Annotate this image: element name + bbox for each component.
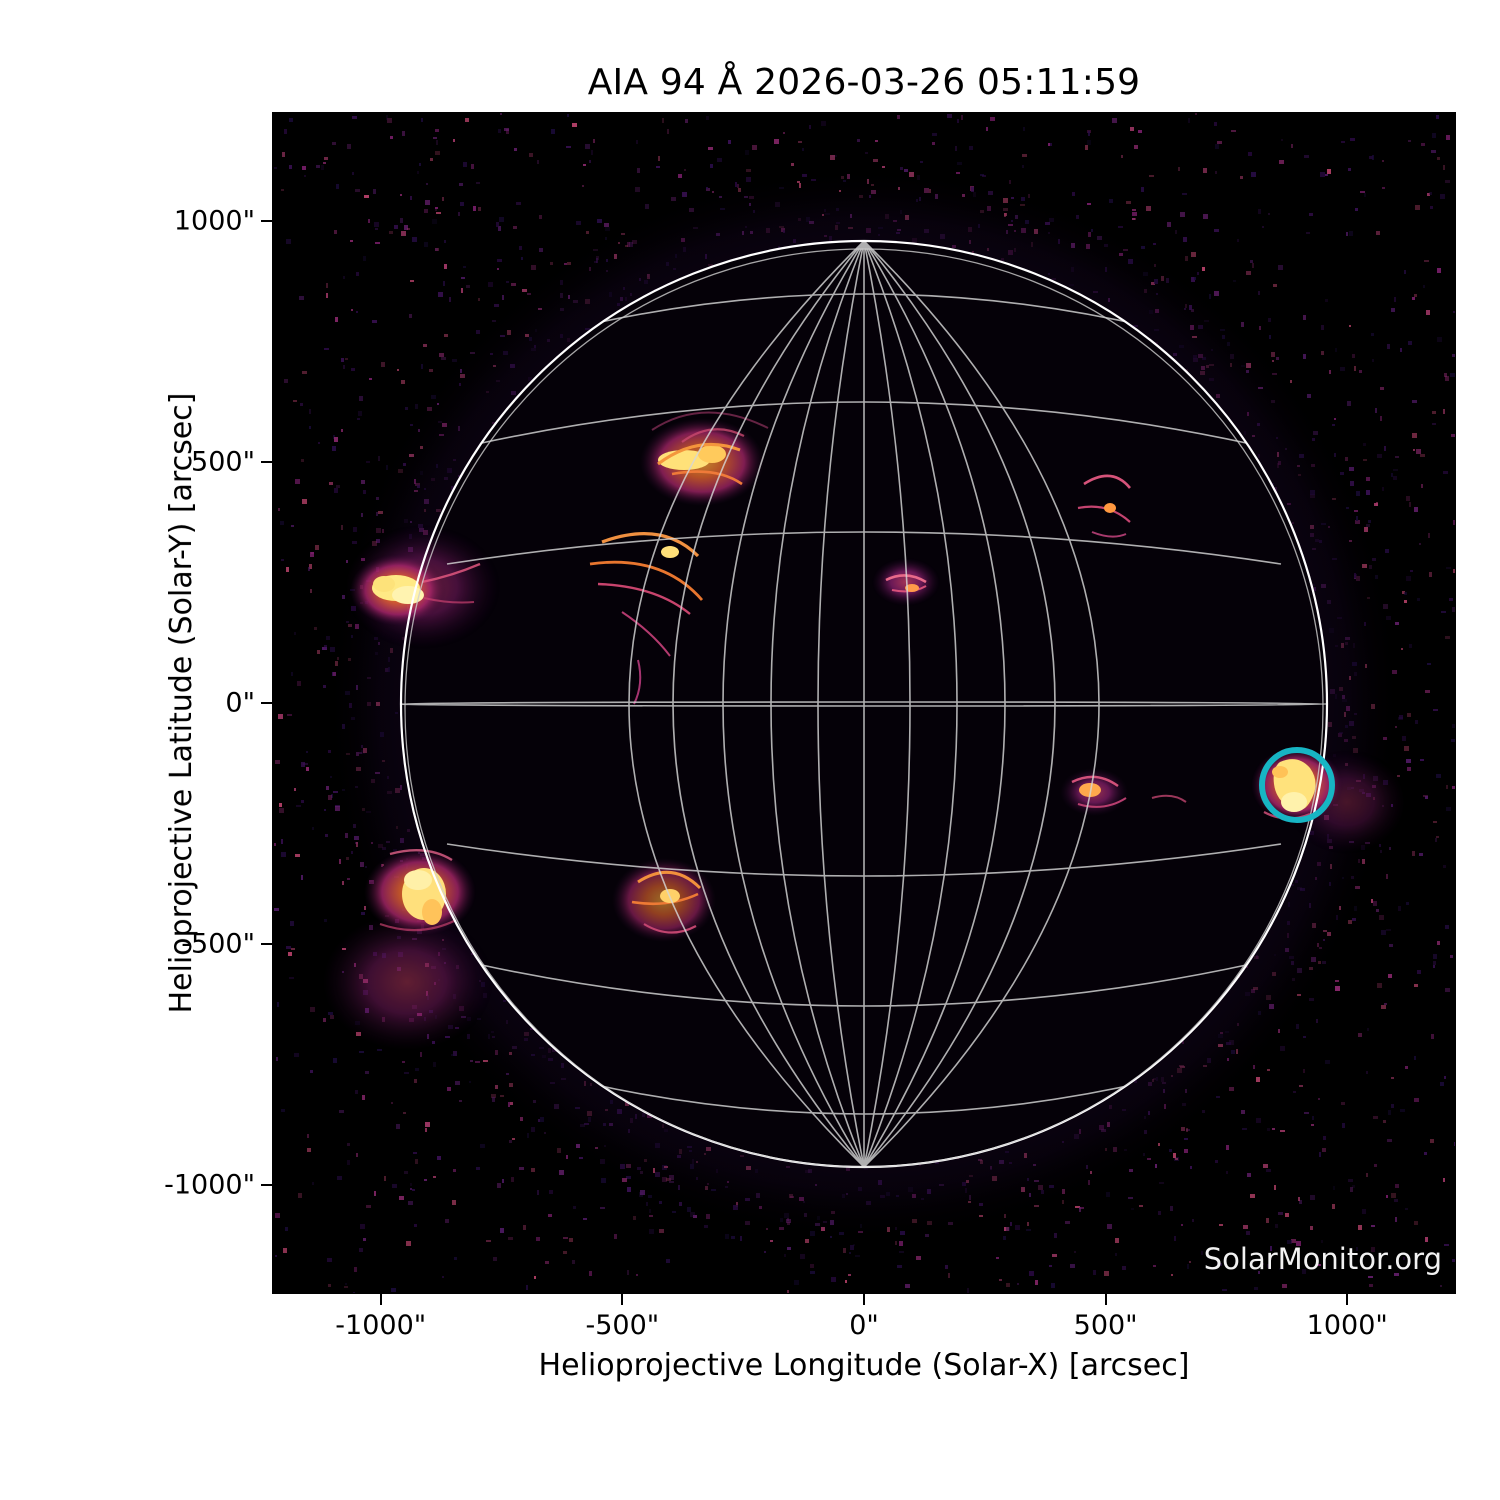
x-tick-mark [621,1294,623,1305]
y-tick-label: 0" [225,688,255,719]
y-tick-label: -1000" [164,1170,255,1201]
x-tick-mark [1346,1294,1348,1305]
y-tick-mark [261,702,272,704]
x-tick-label: -500" [586,1310,660,1341]
x-tick-mark [380,1294,382,1305]
x-tick-label: -1000" [335,1310,426,1341]
y-tick-label: 1000" [174,205,255,236]
y-tick-mark [261,943,272,945]
x-tick-mark [1105,1294,1107,1305]
x-tick-mark [863,1294,865,1305]
y-tick-mark [261,220,272,222]
active-region-southwest-limb [364,848,476,936]
x-tick-label: 1000" [1307,1310,1388,1341]
y-axis-label: Helioprojective Latitude (Solar-Y) [arcs… [164,393,199,1014]
y-tick-label: 500" [191,446,255,477]
watermark: SolarMonitor.org [1204,1242,1442,1276]
solar-overlay [272,112,1456,1294]
x-tick-label: 500" [1074,1310,1138,1341]
y-tick-mark [261,1184,272,1186]
y-tick-mark [261,461,272,463]
solar-image-figure: AIA 94 Å 2026-03-26 05:11:59 [0,0,1500,1500]
page-title: AIA 94 Å 2026-03-26 05:11:59 [272,62,1456,103]
x-tick-label: 0" [849,1310,879,1341]
x-axis-label: Helioprojective Longitude (Solar-X) [arc… [272,1348,1456,1383]
solar-image-plot-area[interactable]: SolarMonitor.org [272,112,1456,1294]
